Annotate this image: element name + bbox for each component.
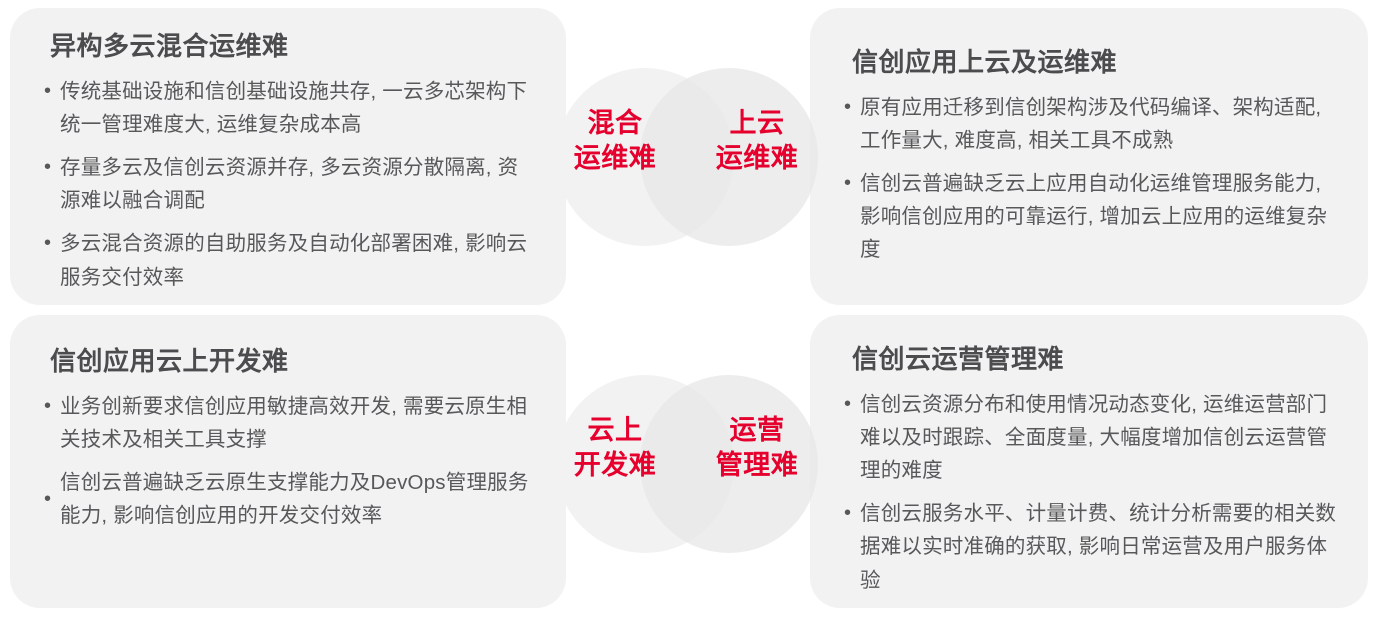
card-heterogeneous-multicloud-ops: 异构多云混合运维难 • 传统基础设施和信创基础设施共存, 一云多芯架构下统一管理… bbox=[10, 8, 566, 305]
bullet-list: • 原有应用迁移到信创架构涉及代码编译、架构适配, 工作量大, 难度高, 相关工… bbox=[844, 91, 1338, 267]
bullet-list: • 信创云资源分布和使用情况动态变化, 运维运营部门难以及时跟踪、全面度量, 大… bbox=[844, 388, 1338, 597]
list-item: • 存量多云及信创云资源并存, 多云资源分散隔离, 资源难以融合调配 bbox=[44, 151, 536, 217]
venn-label-cloud-development: 云上 开发难 bbox=[550, 413, 680, 483]
list-item-text: 传统基础设施和信创基础设施共存, 一云多芯架构下统一管理难度大, 运维复杂成本高 bbox=[60, 75, 536, 141]
bullet-marker-icon: • bbox=[844, 497, 860, 529]
venn-diagram-bottom: 云上 开发难 运营 管理难 bbox=[556, 375, 818, 555]
card-title: 异构多云混合运维难 bbox=[50, 30, 536, 63]
card-cloud-operations-management: 信创云运营管理难 • 信创云资源分布和使用情况动态变化, 运维运营部门难以及时跟… bbox=[810, 315, 1368, 608]
list-item: • 业务创新要求信创应用敏捷高效开发, 需要云原生相关技术及相关工具支撑 bbox=[44, 390, 536, 456]
venn-diagram-top: 混合 运维难 上云 运维难 bbox=[556, 68, 818, 248]
bullet-marker-icon: • bbox=[44, 75, 60, 107]
list-item-text: 存量多云及信创云资源并存, 多云资源分散隔离, 资源难以融合调配 bbox=[60, 151, 536, 217]
list-item: • 多云混合资源的自助服务及自动化部署困难, 影响云服务交付效率 bbox=[44, 227, 536, 293]
bullet-list: • 业务创新要求信创应用敏捷高效开发, 需要云原生相关技术及相关工具支撑 • 信… bbox=[44, 390, 536, 533]
list-item-text: 业务创新要求信创应用敏捷高效开发, 需要云原生相关技术及相关工具支撑 bbox=[60, 390, 536, 456]
card-cloud-development: 信创应用云上开发难 • 业务创新要求信创应用敏捷高效开发, 需要云原生相关技术及… bbox=[10, 315, 566, 608]
list-item: • 信创云普遍缺乏云原生支撑能力及DevOps管理服务能力, 影响信创应用的开发… bbox=[44, 466, 536, 532]
list-item: • 信创云服务水平、计量计费、统计分析需要的相关数据难以实时准确的获取, 影响日… bbox=[844, 497, 1338, 597]
bullet-list: • 传统基础设施和信创基础设施共存, 一云多芯架构下统一管理难度大, 运维复杂成… bbox=[44, 75, 536, 294]
card-app-to-cloud-ops: 信创应用上云及运维难 • 原有应用迁移到信创架构涉及代码编译、架构适配, 工作量… bbox=[810, 8, 1368, 305]
bullet-marker-icon: • bbox=[44, 151, 60, 183]
list-item: • 传统基础设施和信创基础设施共存, 一云多芯架构下统一管理难度大, 运维复杂成… bbox=[44, 75, 536, 141]
bullet-marker-icon: • bbox=[44, 483, 60, 515]
venn-label-operations-management: 运营 管理难 bbox=[692, 413, 822, 483]
bullet-marker-icon: • bbox=[844, 167, 860, 199]
list-item-text: 信创云服务水平、计量计费、统计分析需要的相关数据难以实时准确的获取, 影响日常运… bbox=[860, 497, 1338, 597]
bullet-marker-icon: • bbox=[44, 390, 60, 422]
list-item: • 原有应用迁移到信创架构涉及代码编译、架构适配, 工作量大, 难度高, 相关工… bbox=[844, 91, 1338, 157]
card-title: 信创应用云上开发难 bbox=[50, 345, 536, 378]
list-item-text: 信创云普遍缺乏云原生支撑能力及DevOps管理服务能力, 影响信创应用的开发交付… bbox=[60, 466, 536, 532]
infographic-stage: 异构多云混合运维难 • 传统基础设施和信创基础设施共存, 一云多芯架构下统一管理… bbox=[0, 0, 1378, 620]
bullet-marker-icon: • bbox=[844, 91, 860, 123]
card-title: 信创云运营管理难 bbox=[852, 343, 1338, 376]
bullet-marker-icon: • bbox=[44, 227, 60, 259]
bullet-marker-icon: • bbox=[844, 388, 860, 420]
list-item-text: 原有应用迁移到信创架构涉及代码编译、架构适配, 工作量大, 难度高, 相关工具不… bbox=[860, 91, 1338, 157]
venn-label-cloud-onboarding-ops: 上云 运维难 bbox=[692, 106, 822, 176]
list-item-text: 信创云资源分布和使用情况动态变化, 运维运营部门难以及时跟踪、全面度量, 大幅度… bbox=[860, 388, 1338, 488]
card-title: 信创应用上云及运维难 bbox=[852, 46, 1338, 79]
venn-label-hybrid-ops: 混合 运维难 bbox=[550, 106, 680, 176]
list-item-text: 信创云普遍缺乏云上应用自动化运维管理服务能力, 影响信创应用的可靠运行, 增加云… bbox=[860, 167, 1338, 267]
list-item: • 信创云资源分布和使用情况动态变化, 运维运营部门难以及时跟踪、全面度量, 大… bbox=[844, 388, 1338, 488]
list-item: • 信创云普遍缺乏云上应用自动化运维管理服务能力, 影响信创应用的可靠运行, 增… bbox=[844, 167, 1338, 267]
list-item-text: 多云混合资源的自助服务及自动化部署困难, 影响云服务交付效率 bbox=[60, 227, 536, 293]
